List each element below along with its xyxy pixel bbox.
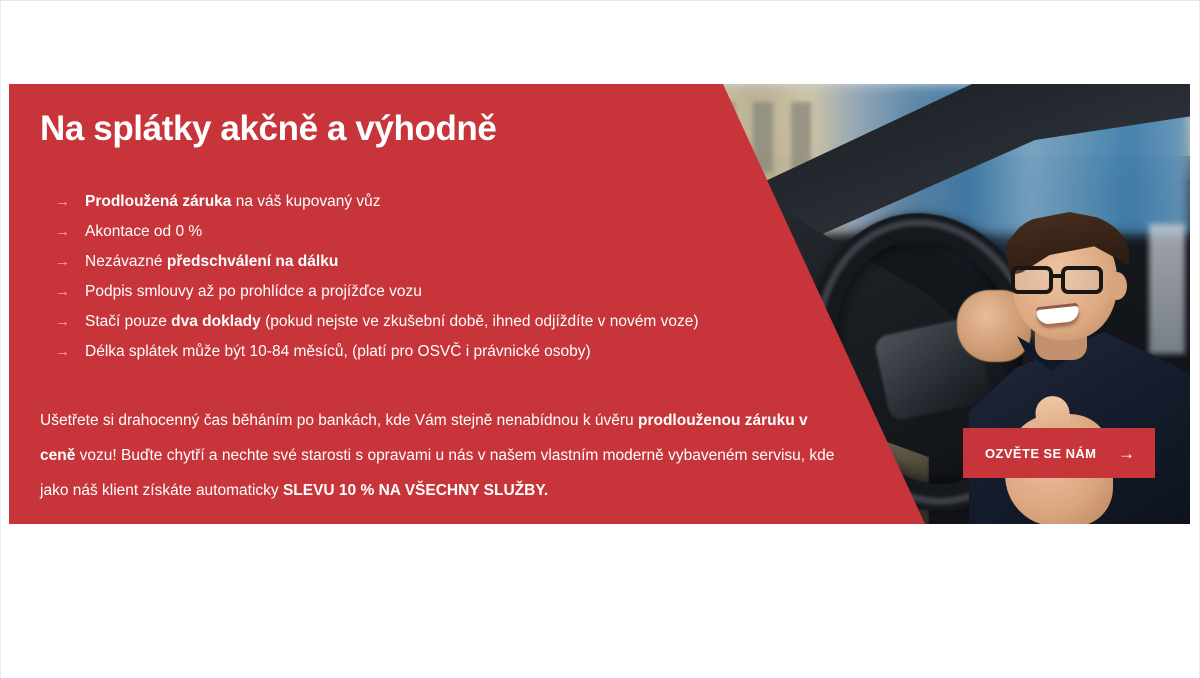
arrow-right-icon: → [55,337,85,367]
list-item: → Nezávazné předschválení na dálku [55,247,855,277]
promo-banner: Na splátky akčně a výhodně → Prodloužená… [9,84,1190,524]
list-item: → Délka splátek může být 10-84 měsíců, (… [55,337,855,367]
page-top-divider [0,0,1200,1]
list-item-label: Nezávazné předschválení na dálku [85,247,338,277]
contact-us-button[interactable]: OZVĚTE SE NÁM → [963,428,1155,478]
arrow-right-icon: → [55,217,85,247]
arrow-right-icon: → [55,247,85,277]
list-item: → Stačí pouze dva doklady (pokud nejste … [55,307,855,337]
banner-paragraph: Ušetřete si drahocenný čas běháním po ba… [40,403,840,508]
page-root: Na splátky akčně a výhodně → Prodloužená… [0,0,1200,678]
arrow-right-icon: → [55,307,85,337]
list-item-label: Délka splátek může být 10-84 měsíců, (pl… [85,337,591,367]
list-item-label: Prodloužená záruka na váš kupovaný vůz [85,187,381,217]
list-item: → Akontace od 0 % [55,217,855,247]
benefits-list: → Prodloužená záruka na váš kupovaný vůz… [55,187,855,367]
list-item-label: Akontace od 0 % [85,217,202,247]
banner-title: Na splátky akčně a výhodně [40,109,496,149]
right-lens [1061,266,1103,294]
arrow-right-icon: → [1118,445,1135,462]
arrow-right-icon: → [55,187,85,217]
glasses-bridge [1053,274,1063,278]
contact-us-button-label: OZVĚTE SE NÁM [985,446,1096,461]
left-lens [1011,266,1053,294]
eyeglasses-icon [1009,266,1115,296]
list-item-label: Stačí pouze dva doklady (pokud nejste ve… [85,307,698,337]
arrow-right-icon: → [55,277,85,307]
list-item: → Prodloužená záruka na váš kupovaný vůz [55,187,855,217]
window-pillar [1149,224,1185,354]
list-item-label: Podpis smlouvy až po prohlídce a projížď… [85,277,422,307]
banner-content: Na splátky akčně a výhodně → Prodloužená… [9,84,723,524]
list-item: → Podpis smlouvy až po prohlídce a projí… [55,277,855,307]
page-left-divider [0,0,1,678]
